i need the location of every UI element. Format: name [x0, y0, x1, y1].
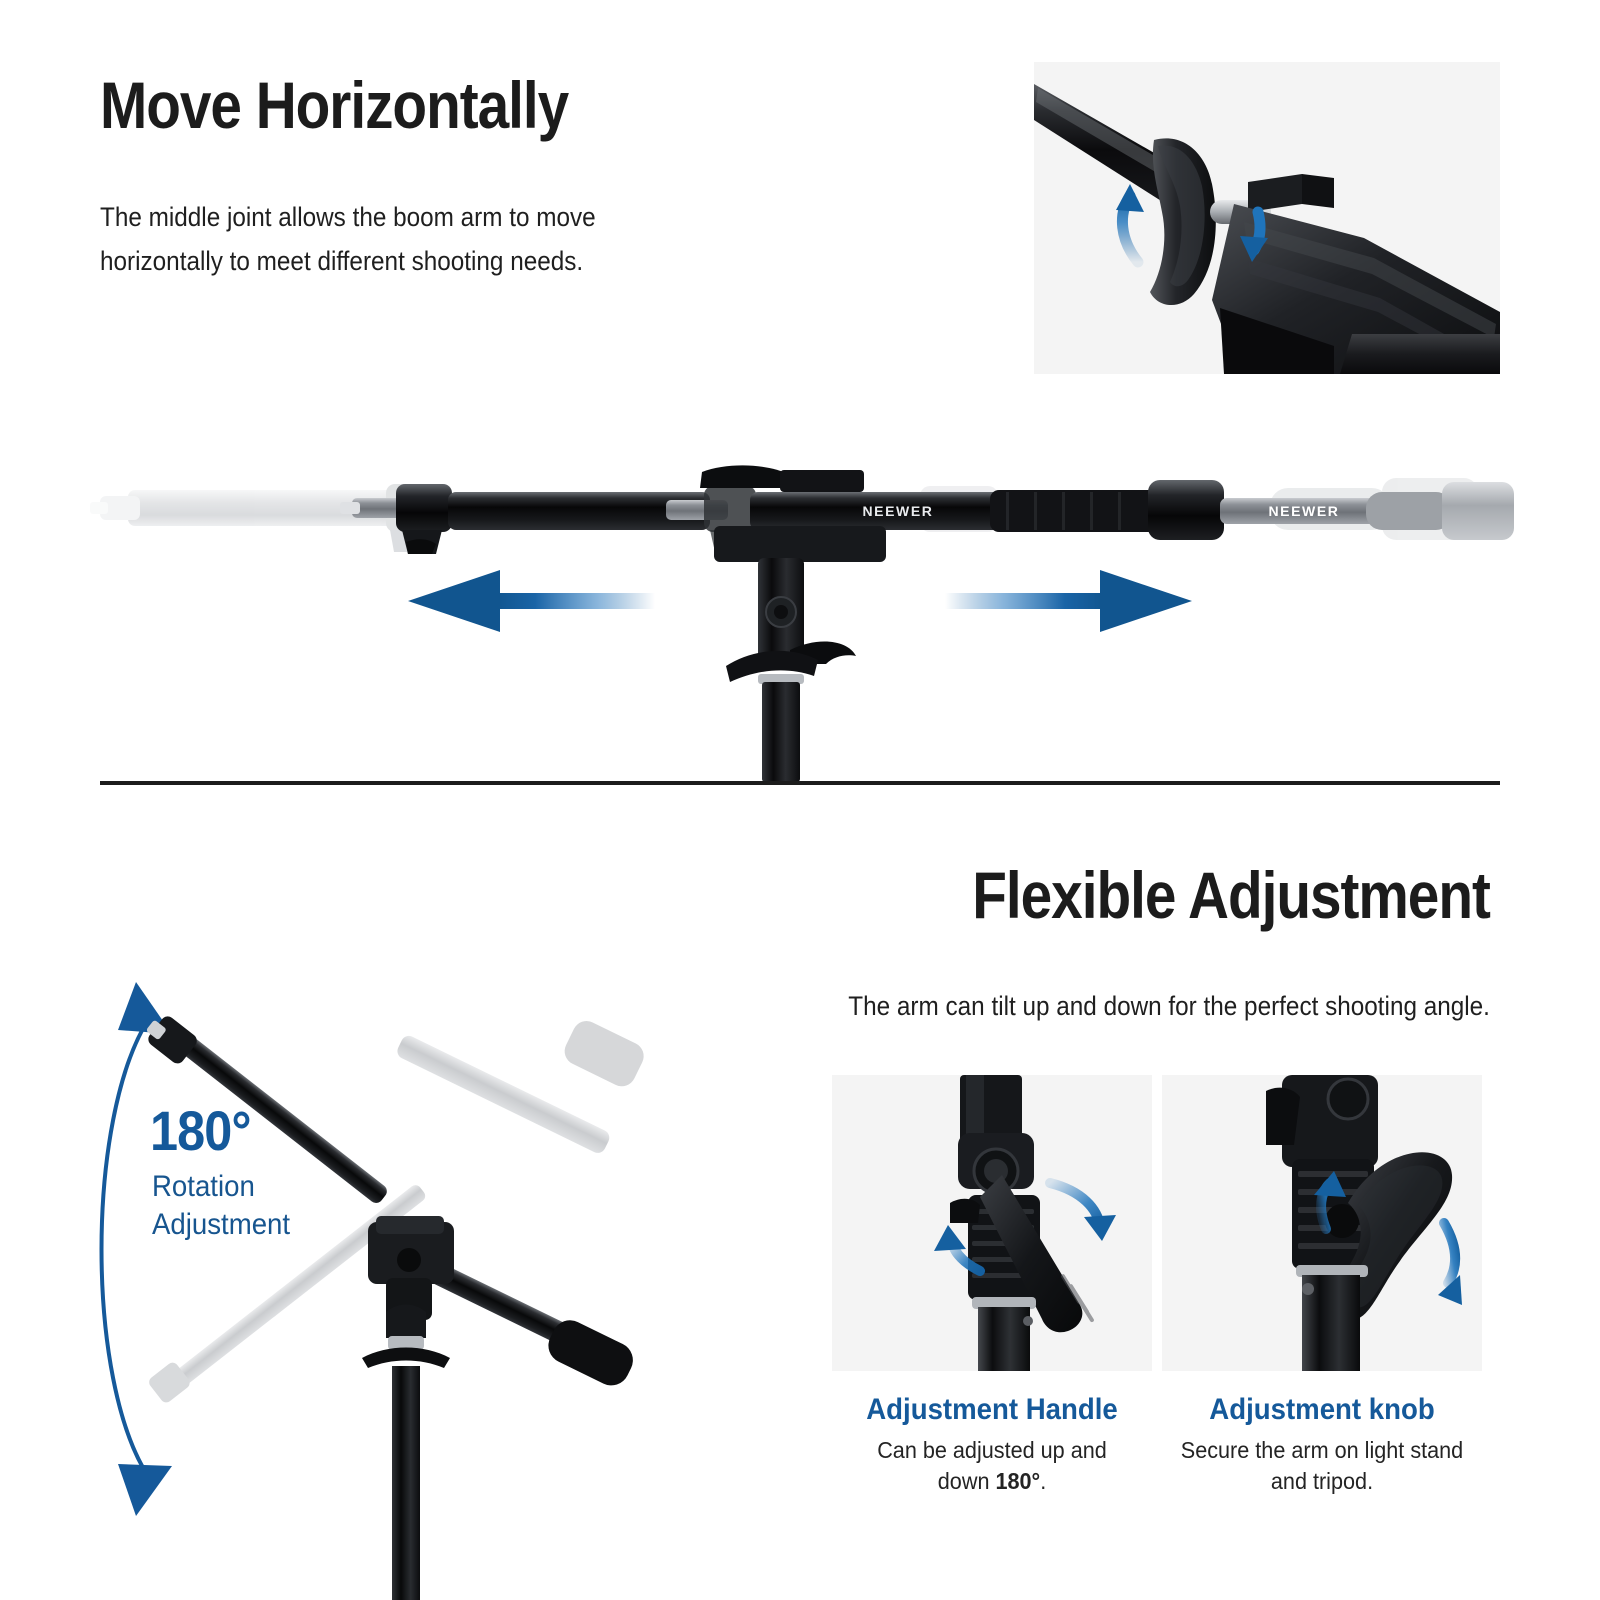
photo-middle-joint	[1034, 62, 1500, 374]
photo-adjustment-handle	[832, 1075, 1152, 1371]
handle-arrow-down-right	[1050, 1183, 1116, 1241]
description-line-1: The middle joint allows the boom arm to …	[100, 196, 596, 240]
page-title-flexible-adjustment: Flexible Adjustment	[972, 862, 1490, 929]
rotation-arrow-bottom	[118, 1464, 172, 1516]
card-desc-line-1: Can be adjusted up and	[842, 1435, 1143, 1466]
card-title-adjustment-handle: Adjustment Handle	[845, 1393, 1139, 1427]
description-flexible-adjustment: The arm can tilt up and down for the per…	[848, 985, 1490, 1029]
rotation-degree-value: 180°	[150, 1098, 251, 1163]
foam-grip	[1340, 334, 1500, 374]
rotation-caption: Rotation Adjustment	[152, 1168, 290, 1245]
card-desc-adjustment-handle: Can be adjusted up and down 180°.	[842, 1435, 1143, 1497]
card-desc-pre: down	[938, 1468, 996, 1494]
rotating-knuckle	[1150, 138, 1216, 305]
page-title-move-horizontally: Move Horizontally	[100, 72, 568, 139]
boom-arm-illustration: NEEWER NEEWER	[90, 430, 1510, 780]
card-desc-line-2: and tripod.	[1172, 1466, 1473, 1497]
brand-mark-left: NEEWER	[862, 503, 933, 519]
description-move-horizontally: The middle joint allows the boom arm to …	[100, 196, 651, 283]
section-divider	[100, 781, 1500, 785]
feature-card-adjustment-handle: Adjustment Handle Can be adjusted up and…	[832, 1075, 1152, 1497]
rotation-arc	[102, 1020, 149, 1476]
card-title-adjustment-knob: Adjustment knob	[1175, 1393, 1469, 1427]
card-desc-line-1: Secure the arm on light stand	[1172, 1435, 1473, 1466]
rotation-caption-line-2: Adjustment	[152, 1206, 290, 1244]
rotation-arrow-up	[1116, 184, 1144, 262]
knob-arrow-down-right	[1438, 1223, 1462, 1305]
feature-card-adjustment-knob: Adjustment knob Secure the arm on light …	[1162, 1075, 1482, 1497]
card-desc-adjustment-knob: Secure the arm on light stand and tripod…	[1172, 1435, 1473, 1497]
brand-mark-right: NEEWER	[1268, 503, 1339, 519]
card-desc-pre: and tripod.	[1271, 1468, 1373, 1494]
center-hub	[368, 1216, 454, 1320]
slide-right-arrow	[945, 570, 1192, 632]
stand-pole	[362, 1305, 450, 1600]
rotation-caption-line-1: Rotation	[152, 1168, 290, 1206]
card-desc-bold: 180°	[995, 1468, 1040, 1494]
rotation-diagram	[100, 960, 660, 1600]
card-desc-post: .	[1040, 1468, 1046, 1494]
description-line-2: horizontally to meet different shooting …	[100, 240, 596, 284]
card-desc-line-2: down 180°.	[842, 1466, 1143, 1497]
slide-left-arrow	[408, 570, 655, 632]
infographic-page: Move Horizontally The middle joint allow…	[0, 0, 1600, 1600]
photo-adjustment-knob	[1162, 1075, 1482, 1371]
